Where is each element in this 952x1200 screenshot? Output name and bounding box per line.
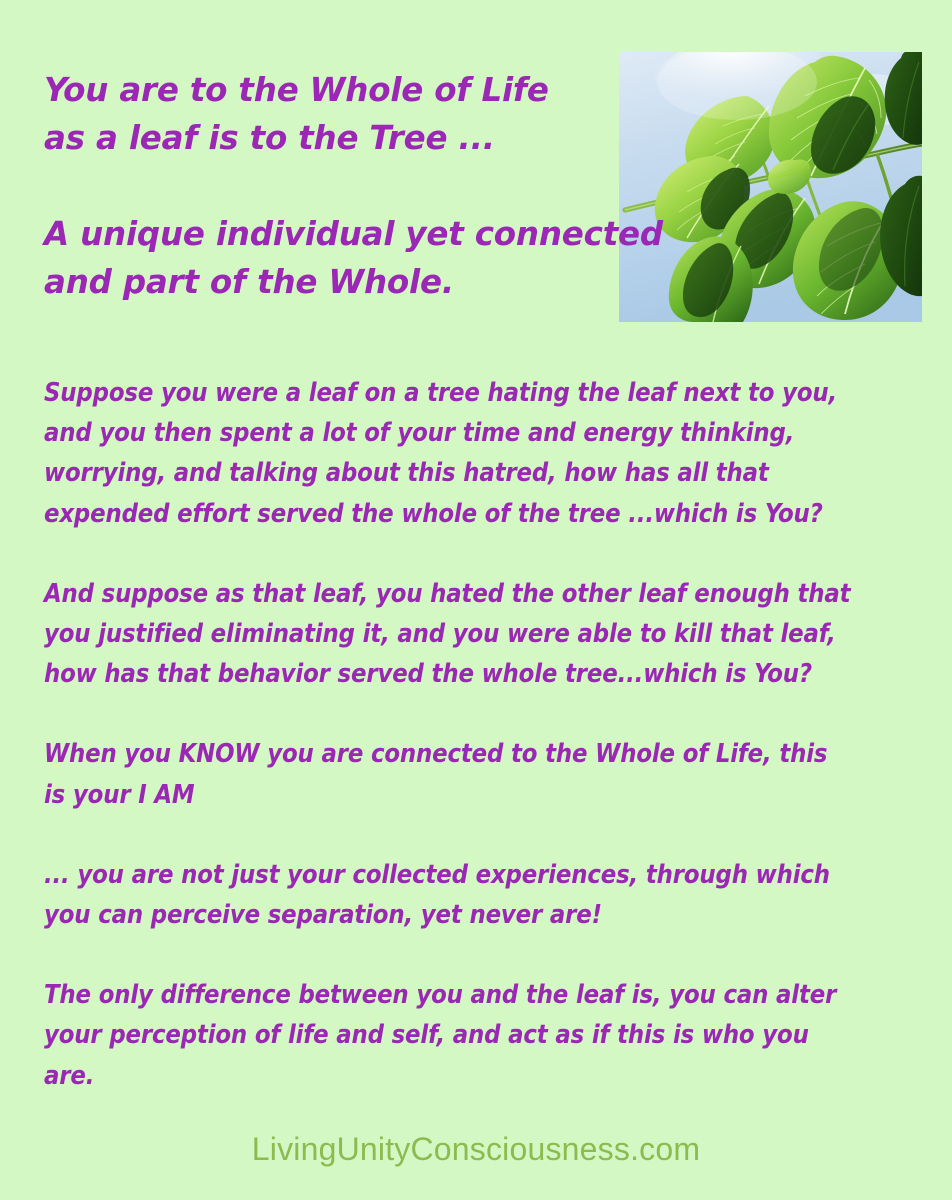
- headline: You are to the Whole of Life as a leaf i…: [44, 66, 604, 306]
- headline-line: and part of the Whole.: [44, 258, 604, 306]
- paragraph-line: worrying, and talking about this hatred,…: [44, 452, 906, 492]
- paragraph-line: And suppose as that leaf, you hated the …: [44, 573, 906, 613]
- paragraph-line: are.: [44, 1055, 906, 1095]
- paragraph-line: The only difference between you and the …: [44, 974, 906, 1014]
- footer-website-url[interactable]: LivingUnityConsciousness.com: [0, 1131, 952, 1168]
- headline-line: as a leaf is to the Tree ...: [44, 114, 604, 162]
- headline-block-1: You are to the Whole of Life as a leaf i…: [44, 66, 604, 162]
- paragraph: When you KNOW you are connected to the W…: [44, 733, 906, 813]
- paragraph-line: your perception of life and self, and ac…: [44, 1014, 906, 1054]
- paragraph-line: expended effort served the whole of the …: [44, 493, 906, 533]
- paragraph-line: you justified eliminating it, and you we…: [44, 613, 906, 653]
- paragraph-line: When you KNOW you are connected to the W…: [44, 733, 906, 773]
- poster-canvas: You are to the Whole of Life as a leaf i…: [0, 0, 952, 1200]
- paragraph: The only difference between you and the …: [44, 974, 906, 1095]
- paragraph-line: is your I AM: [44, 774, 906, 814]
- paragraph: And suppose as that leaf, you hated the …: [44, 573, 906, 694]
- paragraph: ... you are not just your collected expe…: [44, 854, 906, 934]
- paragraph-line: you can perceive separation, yet never a…: [44, 894, 906, 934]
- body-copy: Suppose you were a leaf on a tree hating…: [44, 372, 906, 1095]
- leaves-photo: [619, 52, 922, 322]
- headline-block-2: A unique individual yet connected and pa…: [44, 210, 604, 306]
- paragraph-line: how has that behavior served the whole t…: [44, 653, 906, 693]
- paragraph: Suppose you were a leaf on a tree hating…: [44, 372, 906, 533]
- paragraph-line: and you then spent a lot of your time an…: [44, 412, 906, 452]
- headline-line: A unique individual yet connected: [44, 210, 604, 258]
- leaves-photo-illustration: [619, 52, 922, 322]
- headline-line: You are to the Whole of Life: [44, 66, 604, 114]
- paragraph-line: Suppose you were a leaf on a tree hating…: [44, 372, 906, 412]
- paragraph-line: ... you are not just your collected expe…: [44, 854, 906, 894]
